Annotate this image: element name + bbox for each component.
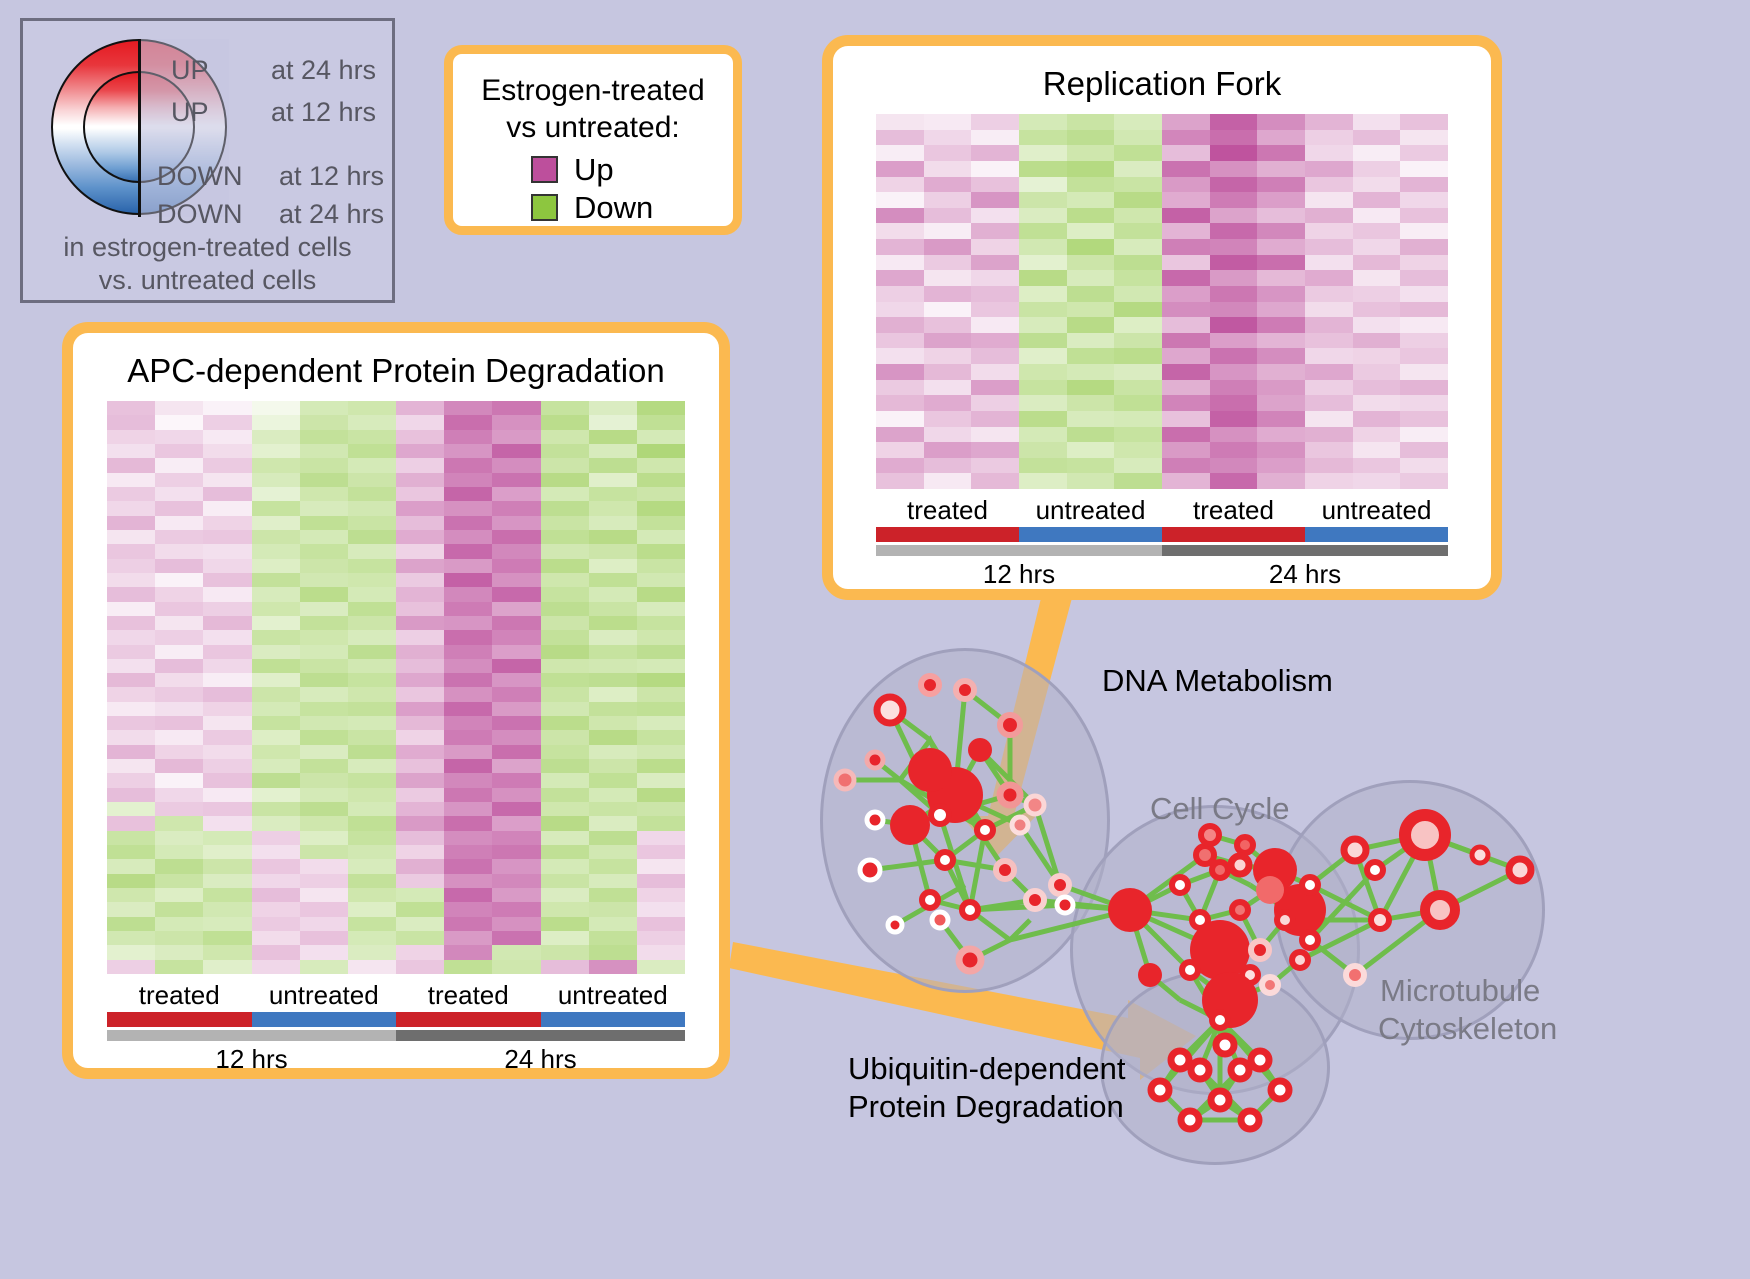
- heatmap-cell: [1257, 270, 1305, 286]
- heatmap-cell: [348, 630, 396, 644]
- heatmap-cell: [541, 802, 589, 816]
- wheel-label-down-24: DOWN: [157, 201, 242, 228]
- heatmap-cell: [541, 960, 589, 974]
- heatmap-cell: [203, 831, 251, 845]
- heatmap-cell: [1019, 458, 1067, 474]
- heatmap-cell: [971, 427, 1019, 443]
- heatmap-cell: [396, 444, 444, 458]
- heatmap-cell: [107, 931, 155, 945]
- heatmap-cell: [924, 239, 972, 255]
- heatmap-cell: [444, 888, 492, 902]
- heatmap-cell: [444, 659, 492, 673]
- heatmap-cell: [637, 616, 685, 630]
- heatmap-cell: [1114, 286, 1162, 302]
- heatmap-cell: [252, 487, 300, 501]
- heatmap-cell: [155, 444, 203, 458]
- heatmap-cell: [1400, 302, 1448, 318]
- wheel-footer: in estrogen-treated cells vs. untreated …: [23, 231, 392, 297]
- heatmap-cell: [924, 348, 972, 364]
- heatmap-cell: [492, 430, 540, 444]
- heatmap-cell: [924, 333, 972, 349]
- rf-bar-treated-24: [1162, 527, 1305, 542]
- heatmap-cell: [637, 573, 685, 587]
- heatmap-cell: [1210, 302, 1258, 318]
- heatmap-cell: [107, 859, 155, 873]
- heatmap-cell: [155, 501, 203, 515]
- heatmap-cell: [444, 917, 492, 931]
- heatmap-cell: [1067, 364, 1115, 380]
- heatmap-cell: [492, 530, 540, 544]
- heatmap-cell: [348, 501, 396, 515]
- heatmap-cell: [1257, 130, 1305, 146]
- heatmap-cell: [107, 401, 155, 415]
- heatmap-cell: [492, 802, 540, 816]
- heatmap-cell: [1114, 223, 1162, 239]
- heatmap-cell: [492, 917, 540, 931]
- heatmap-cell: [1162, 286, 1210, 302]
- heatmap-cell: [155, 759, 203, 773]
- heatmap-cell: [541, 587, 589, 601]
- heatmap-cell: [1305, 239, 1353, 255]
- heatmap-cell: [203, 931, 251, 945]
- heatmap-cell: [444, 859, 492, 873]
- heatmap-cell: [1067, 255, 1115, 271]
- heatmap-cell: [252, 960, 300, 974]
- heatmap-cell: [203, 473, 251, 487]
- heatmap-cell: [444, 401, 492, 415]
- heatmap-cell: [396, 630, 444, 644]
- heatmap-cell: [971, 473, 1019, 489]
- heatmap-cell: [637, 960, 685, 974]
- heatmap-cell: [1305, 333, 1353, 349]
- heatmap-cell: [1162, 192, 1210, 208]
- heatmap-cell: [444, 516, 492, 530]
- heatmap-cell: [971, 208, 1019, 224]
- heatmap-cell: [637, 759, 685, 773]
- heatmap-cell: [300, 716, 348, 730]
- heatmap-cell: [1019, 114, 1067, 130]
- heatmap-cell: [203, 659, 251, 673]
- heatmap-cell: [541, 759, 589, 773]
- heatmap-cell: [1400, 333, 1448, 349]
- heatmap-cell: [203, 630, 251, 644]
- heatmap-cell: [396, 745, 444, 759]
- heatmap-cell: [1257, 239, 1305, 255]
- heatmap-cell: [1162, 130, 1210, 146]
- heatmap-cell: [1353, 177, 1401, 193]
- heatmap-cell: [541, 687, 589, 701]
- heatmap-cell: [1353, 348, 1401, 364]
- heatmap-cell: [492, 902, 540, 916]
- heatmap-cell: [589, 931, 637, 945]
- heatmap-cell: [1400, 239, 1448, 255]
- heatmap-cell: [589, 573, 637, 587]
- heatmap-cell: [876, 145, 924, 161]
- heatmap-cell: [1210, 473, 1258, 489]
- heatmap-cell: [589, 673, 637, 687]
- heatmap-cell: [924, 192, 972, 208]
- heatmap-cell: [300, 444, 348, 458]
- heatmap-cell: [1162, 208, 1210, 224]
- heatmap-cell: [637, 559, 685, 573]
- heatmap-cell: [396, 573, 444, 587]
- heatmap-cell: [1114, 442, 1162, 458]
- heatmap-cell: [1210, 427, 1258, 443]
- heatmap-cell: [1305, 364, 1353, 380]
- heatmap-cell: [589, 659, 637, 673]
- heatmap-cell: [924, 114, 972, 130]
- heatmap-cell: [444, 874, 492, 888]
- heatmap-cell: [203, 802, 251, 816]
- heatmap-cell: [348, 874, 396, 888]
- heatmap-cell: [924, 458, 972, 474]
- heatmap-cell: [1114, 145, 1162, 161]
- heatmap-cell: [1400, 223, 1448, 239]
- heatmap-cell: [1257, 427, 1305, 443]
- heatmap-cell: [155, 945, 203, 959]
- heatmap-cell: [348, 802, 396, 816]
- heatmap-cell: [1019, 364, 1067, 380]
- heatmap-cell: [1067, 145, 1115, 161]
- heatmap-cell: [203, 917, 251, 931]
- heatmap-cell: [396, 788, 444, 802]
- heatmap-cell: [492, 487, 540, 501]
- apc-timebar-24hrs: [396, 1030, 685, 1041]
- heatmap-cell: [155, 687, 203, 701]
- heatmap-cell: [1067, 161, 1115, 177]
- heatmap-cell: [1400, 348, 1448, 364]
- heatmap-cell: [1353, 317, 1401, 333]
- heatmap-cell: [637, 859, 685, 873]
- heatmap-cell: [589, 788, 637, 802]
- heatmap-cell: [155, 616, 203, 630]
- heatmap-cell: [155, 587, 203, 601]
- heatmap-cell: [971, 114, 1019, 130]
- heatmap-cell: [589, 473, 637, 487]
- heatmap-cell: [1305, 161, 1353, 177]
- heatmap-cell: [107, 559, 155, 573]
- heatmap-cell: [107, 716, 155, 730]
- heatmap-cell: [971, 380, 1019, 396]
- heatmap-cell: [396, 759, 444, 773]
- heatmap-cell: [155, 401, 203, 415]
- heatmap-cell: [637, 702, 685, 716]
- heatmap-cell: [155, 859, 203, 873]
- heatmap-cell: [252, 945, 300, 959]
- heatmap-cell: [1257, 177, 1305, 193]
- heatmap-cell: [589, 859, 637, 873]
- heatmap-cell: [1067, 286, 1115, 302]
- heatmap-cell: [637, 716, 685, 730]
- heatmap-cell: [203, 874, 251, 888]
- heatmap-cell: [1305, 317, 1353, 333]
- heatmap-cell: [1305, 177, 1353, 193]
- heatmap-cell: [300, 773, 348, 787]
- heatmap-cell: [589, 559, 637, 573]
- heatmap-cell: [1400, 286, 1448, 302]
- rf-bar-untreated-24: [1305, 527, 1448, 542]
- heatmap-cell: [589, 831, 637, 845]
- heatmap-cell: [637, 788, 685, 802]
- heatmap-cell: [1257, 395, 1305, 411]
- heatmap-cell: [589, 487, 637, 501]
- heatmap-cell: [348, 544, 396, 558]
- heatmap-cell: [348, 602, 396, 616]
- heatmap-cell: [1305, 473, 1353, 489]
- heatmap-cell: [589, 458, 637, 472]
- heatmap-cell: [107, 430, 155, 444]
- cluster-label-ubiquitin-line1: Ubiquitin-dependent: [848, 1050, 1126, 1087]
- heatmap-cell: [492, 773, 540, 787]
- heatmap-cell: [1067, 473, 1115, 489]
- heatmap-cell: [1162, 114, 1210, 130]
- apc-time-labels: 12 hrs 24 hrs: [107, 1043, 685, 1075]
- heatmap-cell: [971, 411, 1019, 427]
- heatmap-cell: [1019, 317, 1067, 333]
- heatmap-cell: [252, 587, 300, 601]
- heatmap-cell: [107, 501, 155, 515]
- heatmap-cell: [396, 702, 444, 716]
- heatmap-cell: [1400, 114, 1448, 130]
- heatmap-cell: [541, 573, 589, 587]
- heatmap-cell: [541, 773, 589, 787]
- heatmap-cell: [589, 516, 637, 530]
- heatmap-cell: [876, 177, 924, 193]
- heatmap-cell: [589, 687, 637, 701]
- heatmap-cell: [589, 630, 637, 644]
- heatmap-cell: [107, 487, 155, 501]
- heatmap-cell: [107, 516, 155, 530]
- heatmap-cell: [300, 960, 348, 974]
- heatmap-cell: [541, 788, 589, 802]
- updown-legend-title: Estrogen-treated vs untreated:: [453, 72, 733, 146]
- heatmap-cell: [396, 602, 444, 616]
- heatmap-cell: [541, 645, 589, 659]
- heatmap-cell: [107, 831, 155, 845]
- rf-bar-treated-12: [876, 527, 1019, 542]
- heatmap-cell: [541, 401, 589, 415]
- heatmap-cell: [541, 673, 589, 687]
- rf-time-label-24: 24 hrs: [1162, 558, 1448, 590]
- heatmap-cell: [1257, 208, 1305, 224]
- heatmap-cell: [637, 458, 685, 472]
- heatmap-cell: [444, 559, 492, 573]
- heatmap-cell: [492, 845, 540, 859]
- heatmap-cell: [589, 530, 637, 544]
- heatmap-cell: [541, 931, 589, 945]
- rf-group-label-1: untreated: [1019, 495, 1162, 525]
- heatmap-cell: [396, 802, 444, 816]
- heatmap-cell: [252, 544, 300, 558]
- heatmap-cell: [1400, 427, 1448, 443]
- heatmap-cell: [155, 473, 203, 487]
- heatmap-cell: [1162, 395, 1210, 411]
- heatmap-cell: [876, 411, 924, 427]
- heatmap-cell: [107, 645, 155, 659]
- heatmap-cell: [252, 645, 300, 659]
- heatmap-cell: [252, 630, 300, 644]
- heatmap-cell: [541, 544, 589, 558]
- heatmap-cell: [300, 501, 348, 515]
- heatmap-cell: [876, 364, 924, 380]
- heatmap-cell: [155, 730, 203, 744]
- heatmap-cell: [589, 874, 637, 888]
- heatmap-cell: [924, 442, 972, 458]
- heatmap-cell: [203, 773, 251, 787]
- heatmap-cell: [1019, 223, 1067, 239]
- heatmap-cell: [492, 444, 540, 458]
- heatmap-cell: [155, 917, 203, 931]
- heatmap-cell: [924, 270, 972, 286]
- heatmap-cell: [1210, 364, 1258, 380]
- heatmap-cell: [203, 673, 251, 687]
- heatmap-cell: [396, 415, 444, 429]
- heatmap-cell: [107, 945, 155, 959]
- heatmap-cell: [300, 630, 348, 644]
- heatmap-cell: [300, 788, 348, 802]
- heatmap-cell: [300, 759, 348, 773]
- heatmap-cell: [1305, 270, 1353, 286]
- heatmap-cell: [1162, 177, 1210, 193]
- heatmap-cell: [348, 659, 396, 673]
- heatmap-cell: [348, 616, 396, 630]
- heatmap-cell: [541, 874, 589, 888]
- heatmap-cell: [1305, 380, 1353, 396]
- heatmap-cell: [1257, 223, 1305, 239]
- heatmap-cell: [300, 730, 348, 744]
- heatmap-cell: [155, 659, 203, 673]
- heatmap-cell: [444, 788, 492, 802]
- heatmap-cell: [155, 716, 203, 730]
- heatmap-cell: [637, 773, 685, 787]
- heatmap-cell: [252, 917, 300, 931]
- heatmap-cell: [444, 960, 492, 974]
- heatmap-cell: [348, 945, 396, 959]
- heatmap-cell: [300, 587, 348, 601]
- heatmap-cell: [1353, 380, 1401, 396]
- heatmap-cell: [924, 223, 972, 239]
- heatmap-cell: [637, 544, 685, 558]
- heatmap-cell: [924, 302, 972, 318]
- heatmap-cell: [589, 759, 637, 773]
- heatmap-cell: [1019, 161, 1067, 177]
- heatmap-cell: [1067, 317, 1115, 333]
- heatmap-cell: [155, 544, 203, 558]
- heatmap-cell: [1353, 145, 1401, 161]
- heatmap-cell: [1019, 348, 1067, 364]
- apc-time-bar: [107, 1030, 685, 1041]
- heatmap-cell: [1019, 286, 1067, 302]
- heatmap-cell: [1257, 255, 1305, 271]
- heatmap-cell: [396, 960, 444, 974]
- heatmap-cell: [492, 559, 540, 573]
- apc-title: APC-dependent Protein Degradation: [73, 351, 719, 391]
- replication-fork-title: Replication Fork: [833, 64, 1491, 104]
- heatmap-cell: [971, 192, 1019, 208]
- heatmap-cell: [252, 702, 300, 716]
- heatmap-cell: [1353, 458, 1401, 474]
- apc-group-labels: treated untreated treated untreated: [107, 980, 685, 1010]
- heatmap-cell: [252, 874, 300, 888]
- heatmap-cell: [589, 401, 637, 415]
- heatmap-cell: [1114, 177, 1162, 193]
- heatmap-cell: [1114, 364, 1162, 380]
- heatmap-cell: [637, 602, 685, 616]
- heatmap-cell: [637, 501, 685, 515]
- heatmap-cell: [444, 831, 492, 845]
- heatmap-cell: [107, 530, 155, 544]
- heatmap-cell: [444, 544, 492, 558]
- heatmap-cell: [1162, 145, 1210, 161]
- apc-bar-untreated-12: [252, 1012, 397, 1027]
- heatmap-cell: [252, 559, 300, 573]
- heatmap-cell: [155, 573, 203, 587]
- heatmap-cell: [1210, 333, 1258, 349]
- heatmap-cell: [203, 716, 251, 730]
- heatmap-cell: [492, 645, 540, 659]
- heatmap-cell: [1305, 411, 1353, 427]
- heatmap-cell: [444, 702, 492, 716]
- heatmap-cell: [1210, 442, 1258, 458]
- heatmap-cell: [252, 888, 300, 902]
- wheel-label-up-12: UP: [171, 99, 209, 126]
- heatmap-cell: [203, 573, 251, 587]
- updown-legend-title-line1: Estrogen-treated: [453, 72, 733, 109]
- heatmap-cell: [971, 395, 1019, 411]
- heatmap-cell: [1353, 223, 1401, 239]
- heatmap-cell: [348, 430, 396, 444]
- heatmap-cell: [589, 501, 637, 515]
- heatmap-cell: [1019, 270, 1067, 286]
- rf-time-label-12: 12 hrs: [876, 558, 1162, 590]
- wheel-time-down-12: at 12 hrs: [279, 163, 384, 190]
- heatmap-cell: [348, 902, 396, 916]
- heatmap-cell: [252, 430, 300, 444]
- heatmap-cell: [348, 573, 396, 587]
- heatmap-cell: [252, 773, 300, 787]
- heatmap-cell: [1114, 302, 1162, 318]
- heatmap-cell: [971, 333, 1019, 349]
- heatmap-cell: [1400, 411, 1448, 427]
- heatmap-cell: [1067, 427, 1115, 443]
- cluster-label-microtubule-line2: Cytoskeleton: [1378, 1010, 1557, 1047]
- cluster-label-microtubule-line1: Microtubule: [1380, 972, 1540, 1009]
- heatmap-cell: [1114, 192, 1162, 208]
- heatmap-cell: [107, 759, 155, 773]
- heatmap-cell: [348, 458, 396, 472]
- heatmap-cell: [444, 845, 492, 859]
- heatmap-cell: [300, 430, 348, 444]
- heatmap-cell: [300, 831, 348, 845]
- heatmap-cell: [1067, 114, 1115, 130]
- rf-group-label-2: treated: [1162, 495, 1305, 525]
- heatmap-cell: [107, 673, 155, 687]
- heatmap-cell: [1114, 473, 1162, 489]
- heatmap-cell: [203, 487, 251, 501]
- heatmap-cell: [876, 333, 924, 349]
- heatmap-cell: [1162, 348, 1210, 364]
- heatmap-cell: [155, 773, 203, 787]
- heatmap-cell: [541, 473, 589, 487]
- heatmap-cell: [637, 645, 685, 659]
- heatmap-cell: [971, 364, 1019, 380]
- heatmap-cell: [252, 401, 300, 415]
- replication-fork-time-labels: 12 hrs 24 hrs: [876, 558, 1448, 590]
- legend-label-down: Down: [574, 192, 653, 223]
- heatmap-cell: [155, 458, 203, 472]
- heatmap-cell: [396, 659, 444, 673]
- heatmap-cell: [348, 917, 396, 931]
